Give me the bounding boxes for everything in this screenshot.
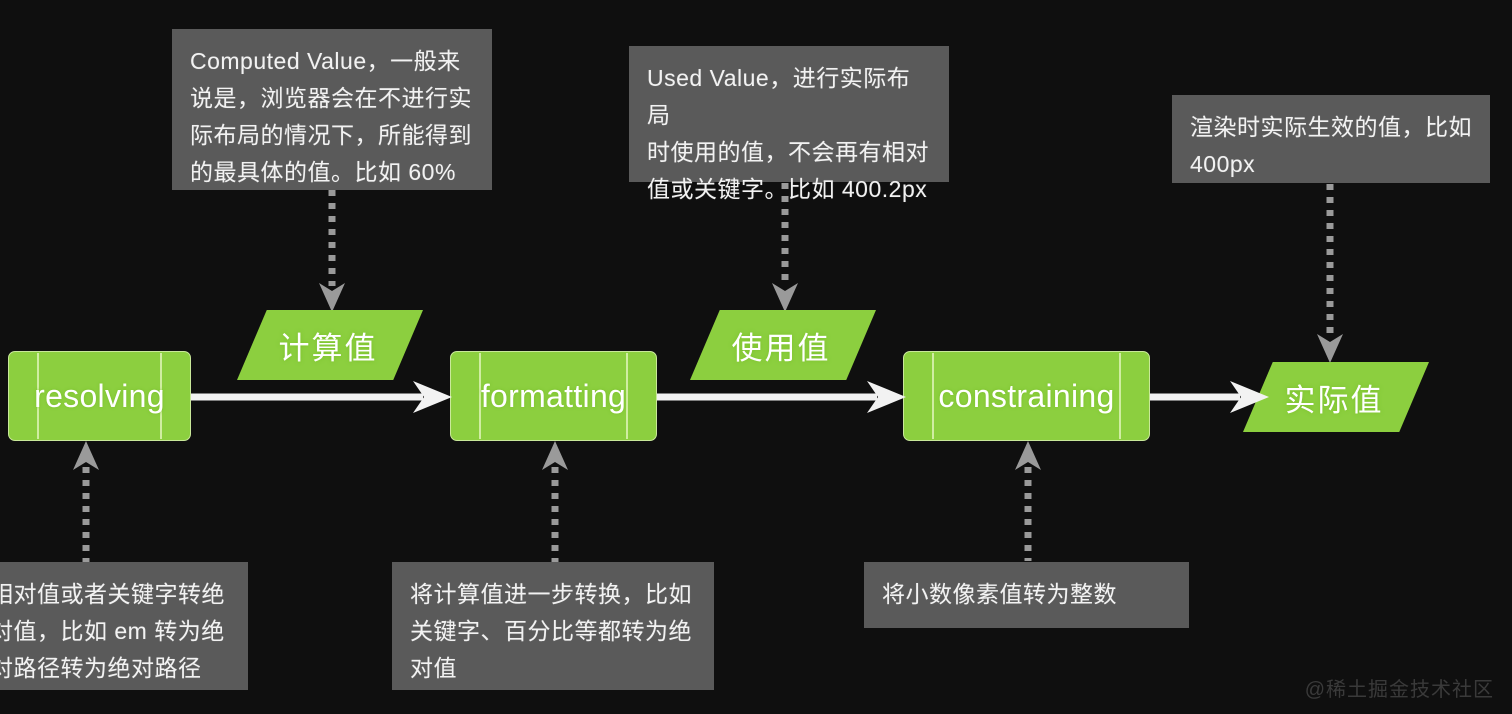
note-used-value: Used Value，进行实际布局 时使用的值，不会再有相对 值或关键字。比如 … [629,46,949,182]
note-computed-value: Computed Value，一般来 说是，浏览器会在不进行实 际布局的情况下，… [172,29,492,190]
diagram-canvas: Computed Value，一般来 说是，浏览器会在不进行实 际布局的情况下，… [0,0,1512,714]
dotted-arrow-used-value [771,183,799,315]
data-node-label: 使用值 [732,323,831,368]
dotted-arrow-constraining-note [1014,441,1042,561]
process-box-constraining: constraining [903,351,1150,441]
process-box-label: constraining [938,378,1114,415]
flow-arrow-resolving-to-formatting [191,380,453,414]
note-actual-value: 渲染时实际生效的值，比如 400px [1172,95,1490,183]
data-node-label: 计算值 [279,323,378,368]
note-formatting: 将计算值进一步转换，比如 关键字、百分比等都转为绝 对值 [392,562,714,690]
process-divider-left [932,353,934,439]
process-box-formatting: formatting [450,351,657,441]
note-resolving: 相对值或者关键字转绝 对值，比如 em 转为绝 对路径转为绝对路径 [0,562,248,690]
flow-arrow-formatting-to-constraining [657,380,907,414]
data-node-computed-value: 计算值 [237,310,423,380]
process-divider-right [1119,353,1121,439]
dotted-arrow-formatting-note [541,441,569,565]
process-box-label: formatting [481,378,626,415]
data-node-actual-value: 实际值 [1243,362,1429,432]
watermark: @稀土掘金技术社区 [1305,673,1494,702]
dotted-arrow-resolving-note [72,441,100,563]
note-constraining: 将小数像素值转为整数 [864,562,1189,628]
data-node-label: 实际值 [1285,375,1384,420]
data-node-used-value: 使用值 [690,310,876,380]
process-divider-right [626,353,628,439]
process-box-resolving: resolving [8,351,191,441]
dotted-arrow-actual-value [1316,184,1344,366]
dotted-arrow-computed-value [318,190,346,315]
flow-arrow-constraining-to-actual-value [1150,380,1270,414]
process-box-label: resolving [34,378,165,415]
